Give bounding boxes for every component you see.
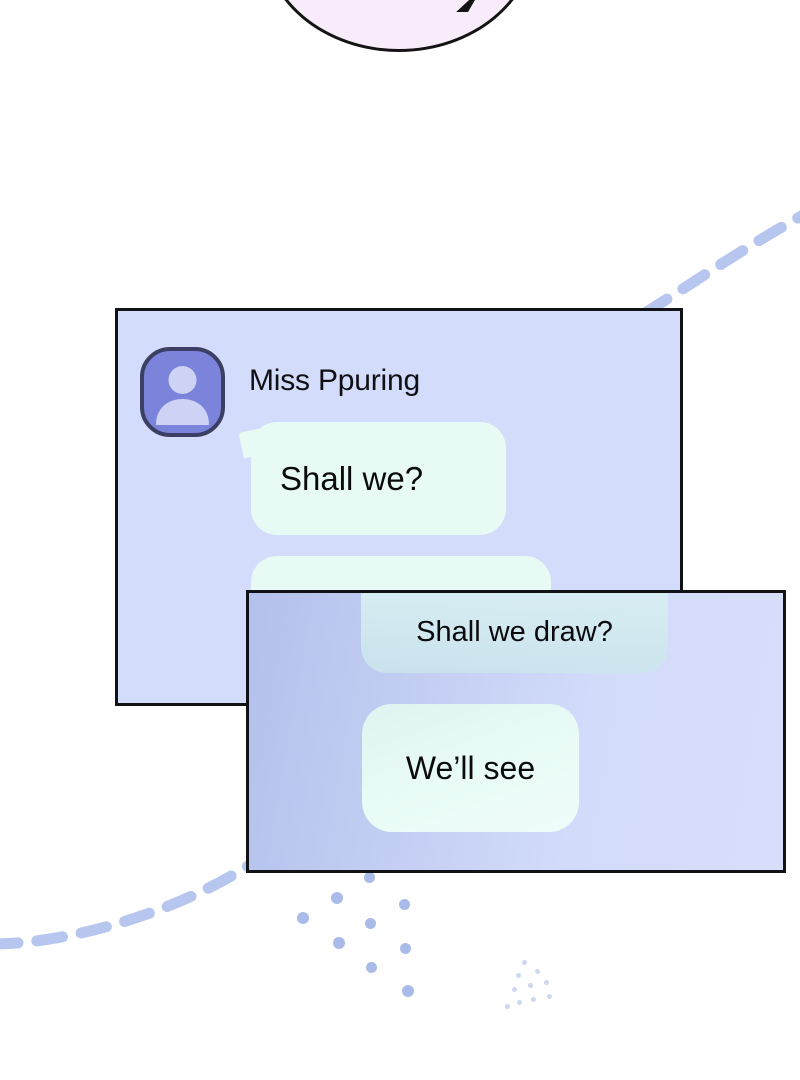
- dashed-path-upper-right: [645, 214, 800, 313]
- message-text: Shall we draw?: [416, 616, 613, 649]
- confetti-microdot: [535, 969, 540, 974]
- chat-panel-two: Shall we draw? We’ll see: [246, 590, 786, 873]
- confetti-microdot: [516, 973, 521, 978]
- message-bubble[interactable]: We’ll see: [362, 704, 579, 832]
- message-text: Shall we?: [280, 460, 423, 498]
- speech-bubble-tail-icon: [452, 0, 492, 12]
- message-bubble[interactable]: Shall we?: [251, 422, 506, 535]
- confetti-microdot: [547, 994, 552, 999]
- confetti-dot: [366, 962, 377, 973]
- comic-panel-canvas: Miss Ppuring Shall we? Shall we draw? We…: [0, 0, 800, 1080]
- person-avatar-icon: [140, 347, 225, 437]
- message-text: We’ll see: [406, 750, 535, 787]
- confetti-dot: [365, 918, 376, 929]
- dashed-path-lower-left: [0, 866, 248, 944]
- confetti-microdot: [522, 960, 527, 965]
- confetti-dot: [364, 872, 375, 883]
- confetti-dot: [333, 937, 345, 949]
- confetti-dot: [297, 912, 309, 924]
- confetti-microdot: [531, 997, 536, 1002]
- speech-bubble-partial: [262, 0, 536, 52]
- confetti-microdot: [528, 983, 533, 988]
- confetti-microdot: [544, 980, 549, 985]
- sender-name: Miss Ppuring: [249, 363, 420, 399]
- confetti-dot: [400, 943, 411, 954]
- confetti-dot: [399, 899, 410, 910]
- confetti-microdot: [505, 1004, 510, 1009]
- confetti-microdot: [512, 987, 517, 992]
- confetti-microdot: [517, 1000, 522, 1005]
- confetti-dot: [331, 892, 343, 904]
- confetti-dot: [402, 985, 414, 997]
- message-bubble[interactable]: Shall we draw?: [361, 591, 668, 673]
